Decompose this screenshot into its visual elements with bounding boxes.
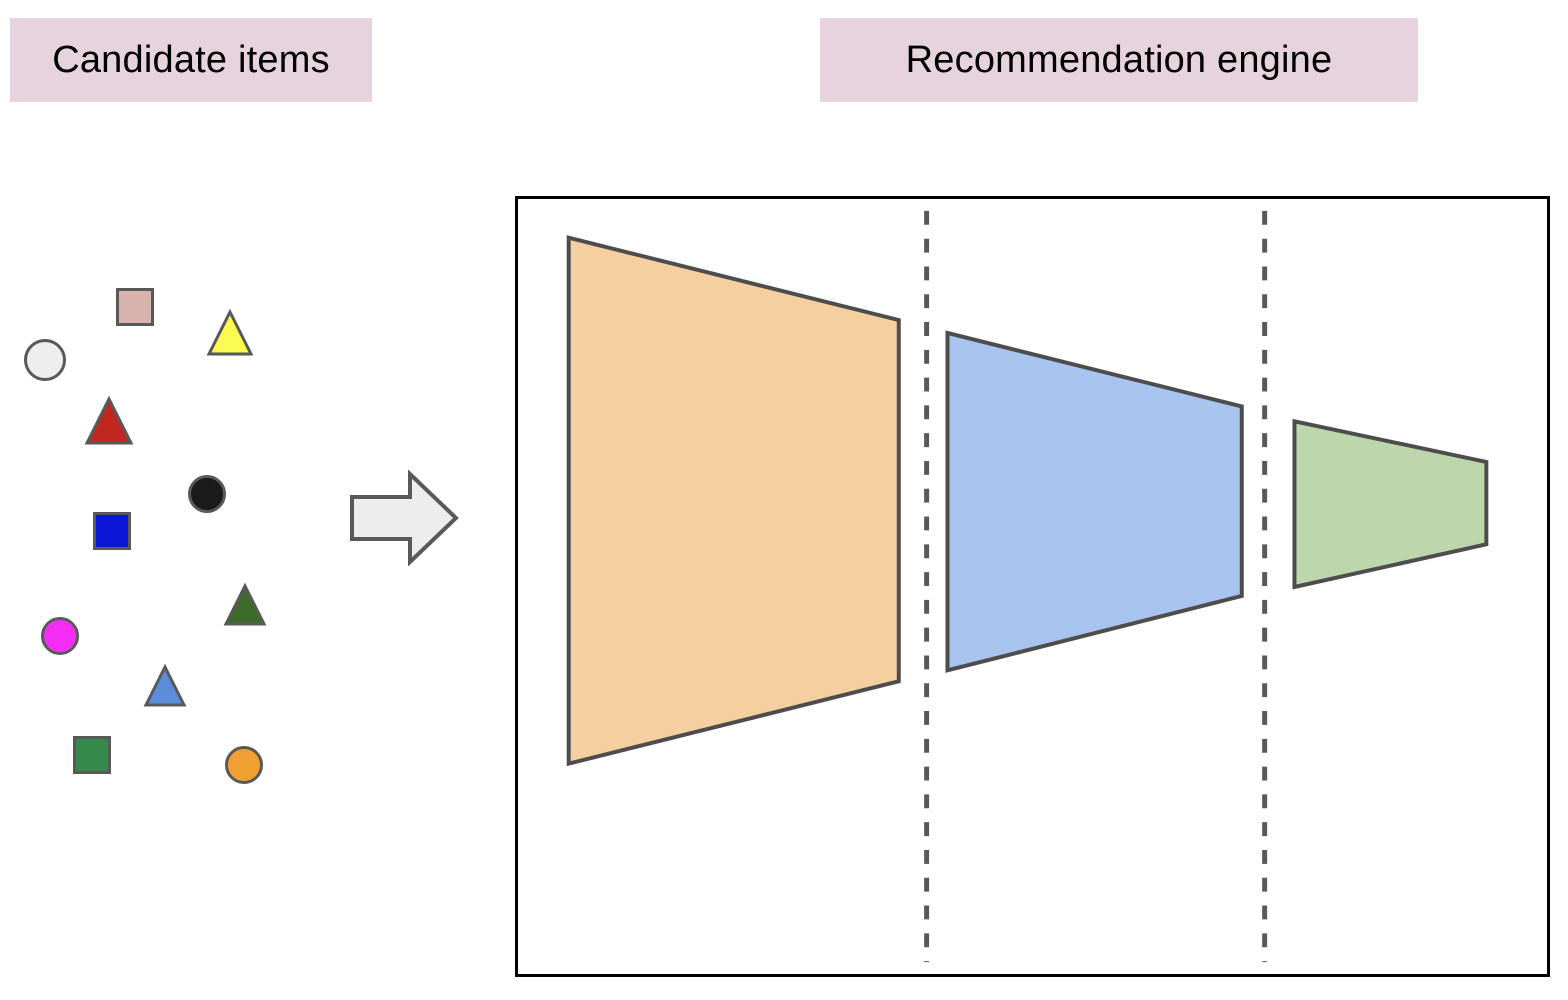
circle-orange (225, 746, 263, 784)
flow-arrow-right-icon (348, 470, 460, 566)
funnel-post-ranking (1294, 421, 1486, 587)
candidate-items-header-label: Candidate items (52, 41, 330, 79)
candidate-items-header: Candidate items (10, 18, 372, 102)
candidate-items-scatter (0, 130, 340, 860)
circle-black (188, 475, 226, 513)
recommendation-engine-header-label: Recommendation engine (906, 41, 1333, 79)
recommendation-engine-box: Retrieval: O(tens of millions) to O(thou… (515, 196, 1550, 977)
circle-white (24, 339, 66, 381)
diagram-canvas: Candidate items Recommendation engine Re… (0, 0, 1568, 1000)
square-blue (93, 512, 131, 550)
circle-magenta (41, 617, 79, 655)
square-rosy-brown (116, 288, 154, 326)
funnel-retrieval (569, 238, 899, 764)
funnel-ranking (947, 333, 1241, 670)
funnel-stages-graphic (518, 199, 1547, 974)
square-green (73, 736, 111, 774)
recommendation-engine-header: Recommendation engine (820, 18, 1418, 102)
